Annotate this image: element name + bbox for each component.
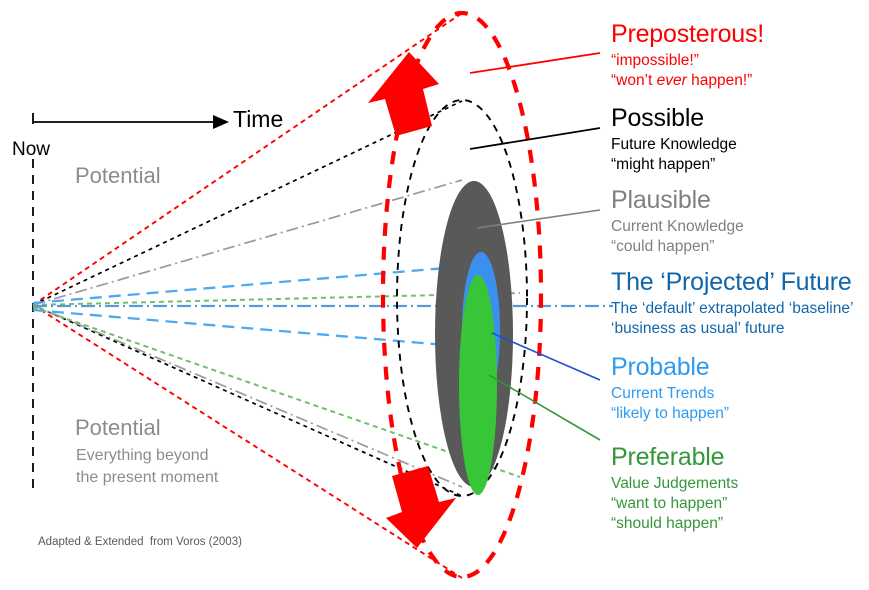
potential-sub-line1: Everything beyond xyxy=(76,447,209,464)
annotation-projected-future: The ‘Projected’ Future The ‘default’ ext… xyxy=(611,268,853,339)
annotation-heading-plausible: Plausible xyxy=(611,186,744,216)
cone-line-probable-lower xyxy=(33,310,505,350)
ellipse-preferable xyxy=(459,275,497,495)
probable-sub-line1: Current Trends xyxy=(611,384,729,404)
possible-sub-line1: Future Knowledge xyxy=(611,135,737,155)
annotation-preferable: Preferable Value Judgements “want to hap… xyxy=(611,443,738,534)
up-arrow xyxy=(368,52,439,136)
annotation-sub-preposterous: “impossible!” “won’t ever happen!” xyxy=(611,51,764,91)
annotation-heading-preferable: Preferable xyxy=(611,443,738,473)
leader-line-possible xyxy=(470,128,600,149)
potential-sub-line2: the present moment xyxy=(76,469,218,486)
annotation-heading-projected-future: The ‘Projected’ Future xyxy=(611,268,853,298)
preposterous-sub-line2: “won’t ever happen!” xyxy=(611,71,764,91)
probable-sub-line2: “likely to happen” xyxy=(611,404,729,424)
annotation-heading-probable: Probable xyxy=(611,353,729,383)
annotation-heading-preposterous: Preposterous! xyxy=(611,20,764,50)
annotation-plausible: Plausible Current Knowledge “could happe… xyxy=(611,186,744,257)
now-axis-label: Now xyxy=(12,139,50,161)
annotation-sub-plausible: Current Knowledge “could happen” xyxy=(611,217,744,257)
leader-line-preposterous xyxy=(470,53,600,73)
time-arrow-head xyxy=(213,115,229,129)
annotation-preposterous: Preposterous! “impossible!” “won’t ever … xyxy=(611,20,764,91)
cone-line-probable-upper xyxy=(33,263,505,303)
annotation-heading-possible: Possible xyxy=(611,104,737,134)
preposterous-italic-word: ever xyxy=(657,72,687,89)
potential-sublabel-bottom: Everything beyondthe present moment xyxy=(76,445,218,488)
possible-sub-line2: “might happen” xyxy=(611,155,737,175)
annotation-sub-probable: Current Trends “likely to happen” xyxy=(611,384,729,424)
credit-label: Adapted & Extended from Voros (2003) xyxy=(38,536,242,550)
projected-sub-line1: The ‘default’ extrapolated ‘baseline’ xyxy=(611,299,853,319)
preferable-sub-line1: Value Judgements xyxy=(611,474,738,494)
annotation-sub-projected-future: The ‘default’ extrapolated ‘baseline’ ‘b… xyxy=(611,299,853,339)
plausible-sub-line2: “could happen” xyxy=(611,237,744,257)
plausible-sub-line1: Current Knowledge xyxy=(611,217,744,237)
annotation-sub-preferable: Value Judgements “want to happen” “shoul… xyxy=(611,474,738,534)
preferable-sub-line2: “want to happen” xyxy=(611,494,738,514)
cone-line-plausible-upper xyxy=(33,180,462,305)
futures-cone-diagram: Time Now Potential Potential Everything … xyxy=(0,0,869,590)
preferable-sub-line3: “should happen” xyxy=(611,514,738,534)
potential-label-top: Potential xyxy=(75,163,161,189)
potential-label-bottom: Potential xyxy=(75,415,161,441)
annotation-probable: Probable Current Trends “likely to happe… xyxy=(611,353,729,424)
annotation-possible: Possible Future Knowledge “might happen” xyxy=(611,104,737,175)
down-arrow xyxy=(386,466,456,548)
projected-sub-line2: ‘business as usual’ future xyxy=(611,319,853,339)
preposterous-sub-line1: “impossible!” xyxy=(611,51,764,71)
cone-line-preposterous-upper xyxy=(33,13,462,305)
time-axis-label: Time xyxy=(233,106,283,133)
annotation-sub-possible: Future Knowledge “might happen” xyxy=(611,135,737,175)
